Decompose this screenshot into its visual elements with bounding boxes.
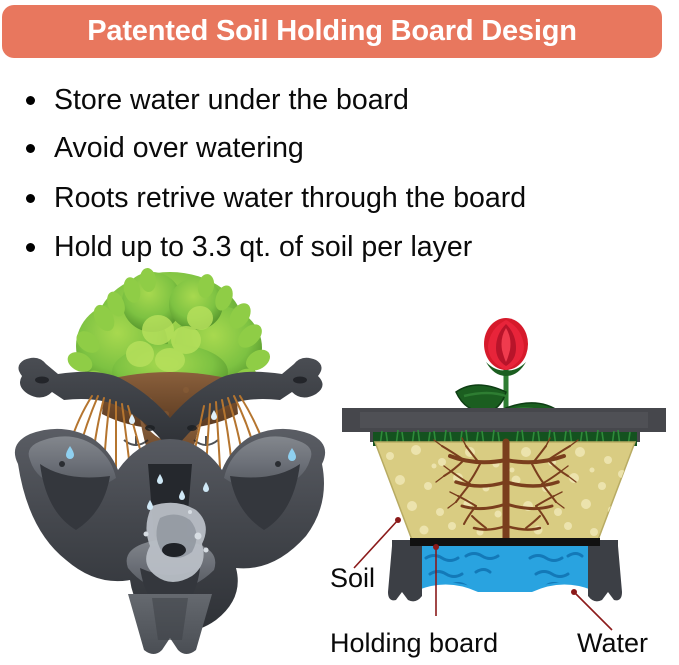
bullet-dot-icon xyxy=(26,144,35,153)
list-item-label: Roots retrive water through the board xyxy=(54,184,526,213)
cross-section-diagram xyxy=(330,300,679,665)
feature-bullet-list: Store water under the board Avoid over w… xyxy=(0,70,679,270)
list-item: Store water under the board xyxy=(26,76,409,124)
list-item-label: Store water under the board xyxy=(54,86,409,115)
list-item: Hold up to 3.3 qt. of soil per layer xyxy=(26,223,472,271)
list-item: Avoid over watering xyxy=(26,124,304,172)
callout-label-holding-board: Holding board xyxy=(330,628,498,659)
page-title: Patented Soil Holding Board Design xyxy=(2,14,662,47)
list-item-label: Hold up to 3.3 qt. of soil per layer xyxy=(54,233,472,262)
rose-bloom-icon xyxy=(484,318,528,376)
product-photo xyxy=(0,268,340,665)
bullet-dot-icon xyxy=(26,96,35,105)
holding-board xyxy=(410,538,600,546)
planter-base-reservoir xyxy=(388,540,622,601)
callout-label-soil: Soil xyxy=(330,563,375,594)
callout-label-water: Water xyxy=(577,628,648,659)
bullet-dot-icon xyxy=(26,243,35,252)
header-banner: Patented Soil Holding Board Design xyxy=(2,5,662,58)
cross-section-graphic xyxy=(330,300,679,665)
list-item-label: Avoid over watering xyxy=(54,134,304,163)
planter-base xyxy=(128,594,212,654)
bullet-dot-icon xyxy=(26,194,35,203)
list-item: Roots retrive water through the board xyxy=(26,174,526,222)
product-photo-graphic xyxy=(0,268,340,665)
